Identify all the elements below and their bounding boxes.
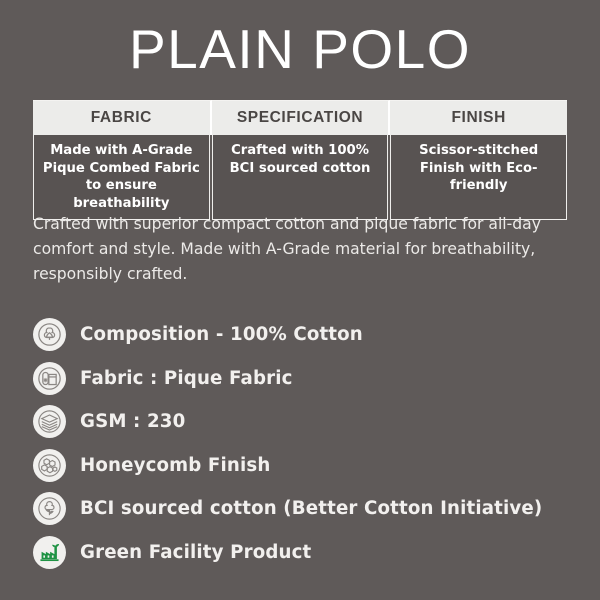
product-description: Crafted with superior compact cotton and… xyxy=(33,212,573,287)
feature-list: Composition - 100% Cotton Fabric : Pique… xyxy=(33,313,573,574)
spec-cell-specification: Crafted with 100% BCI sourced cotton xyxy=(212,135,389,220)
feature-item-fabric: Fabric : Pique Fabric xyxy=(33,357,573,401)
spec-header-fabric: FABRIC xyxy=(33,100,212,135)
spec-table: FABRIC SPECIFICATION FINISH Made with A-… xyxy=(33,100,567,220)
green-factory-icon xyxy=(33,536,66,569)
feature-label: Fabric : Pique Fabric xyxy=(80,368,293,389)
fabric-roll-icon xyxy=(33,362,66,395)
feature-label: Composition - 100% Cotton xyxy=(80,324,363,345)
feature-label: BCI sourced cotton (Better Cotton Initia… xyxy=(80,498,542,519)
cotton-boll-icon xyxy=(33,318,66,351)
feature-label: Honeycomb Finish xyxy=(80,455,270,476)
page-title: PLAIN POLO xyxy=(0,18,600,80)
feature-label: Green Facility Product xyxy=(80,542,311,563)
spec-cell-fabric: Made with A-Grade Pique Combed Fabric to… xyxy=(33,135,210,220)
spec-table-body-row: Made with A-Grade Pique Combed Fabric to… xyxy=(33,135,567,220)
feature-item-composition: Composition - 100% Cotton xyxy=(33,313,573,357)
spec-header-finish: FINISH xyxy=(390,100,567,135)
honeycomb-icon xyxy=(33,449,66,482)
feature-label: GSM : 230 xyxy=(80,411,185,432)
layers-stack-icon xyxy=(33,405,66,438)
feature-item-bci-cotton: BCI sourced cotton (Better Cotton Initia… xyxy=(33,487,573,531)
feature-item-gsm: GSM : 230 xyxy=(33,400,573,444)
spec-header-specification: SPECIFICATION xyxy=(212,100,391,135)
spec-cell-finish: Scissor-stitched Finish with Eco-friendl… xyxy=(390,135,567,220)
feature-item-honeycomb: Honeycomb Finish xyxy=(33,444,573,488)
cotton-plant-icon xyxy=(33,492,66,525)
spec-table-header-row: FABRIC SPECIFICATION FINISH xyxy=(33,100,567,135)
feature-item-green-facility: Green Facility Product xyxy=(33,531,573,575)
product-spec-card: PLAIN POLO FABRIC SPECIFICATION FINISH M… xyxy=(0,0,600,600)
